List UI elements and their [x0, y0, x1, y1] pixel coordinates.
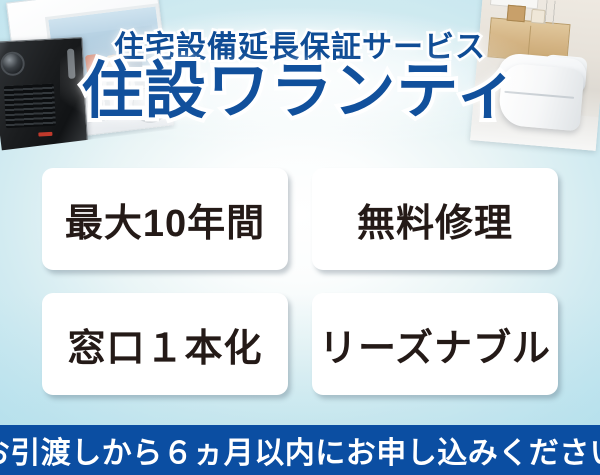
call-button-led [38, 132, 52, 137]
feature-box-single-contact: 窓口１本化 [42, 293, 288, 395]
service-title: 住設ワランティ [0, 58, 600, 126]
shelf-box [507, 5, 526, 23]
cta-banner: お引渡しから６ヵ月以内にお申し込みください [0, 425, 600, 475]
feature-label: 無料修理 [357, 192, 513, 247]
promo-banner: 住宅設備延長保証サービス 住設ワランティ 最大10年間 無料修理 窓口１本化 リ… [0, 0, 600, 475]
feature-label: リーズナブル [319, 317, 551, 372]
feature-label: 最大10年間 [65, 192, 265, 247]
cta-text: お引渡しから６ヵ月以内にお申し込みください [0, 428, 600, 472]
feature-label: 窓口１本化 [67, 317, 262, 372]
feature-box-max-years: 最大10年間 [42, 168, 288, 270]
feature-box-reasonable: リーズナブル [312, 293, 558, 395]
feature-box-free-repair: 無料修理 [312, 168, 558, 270]
